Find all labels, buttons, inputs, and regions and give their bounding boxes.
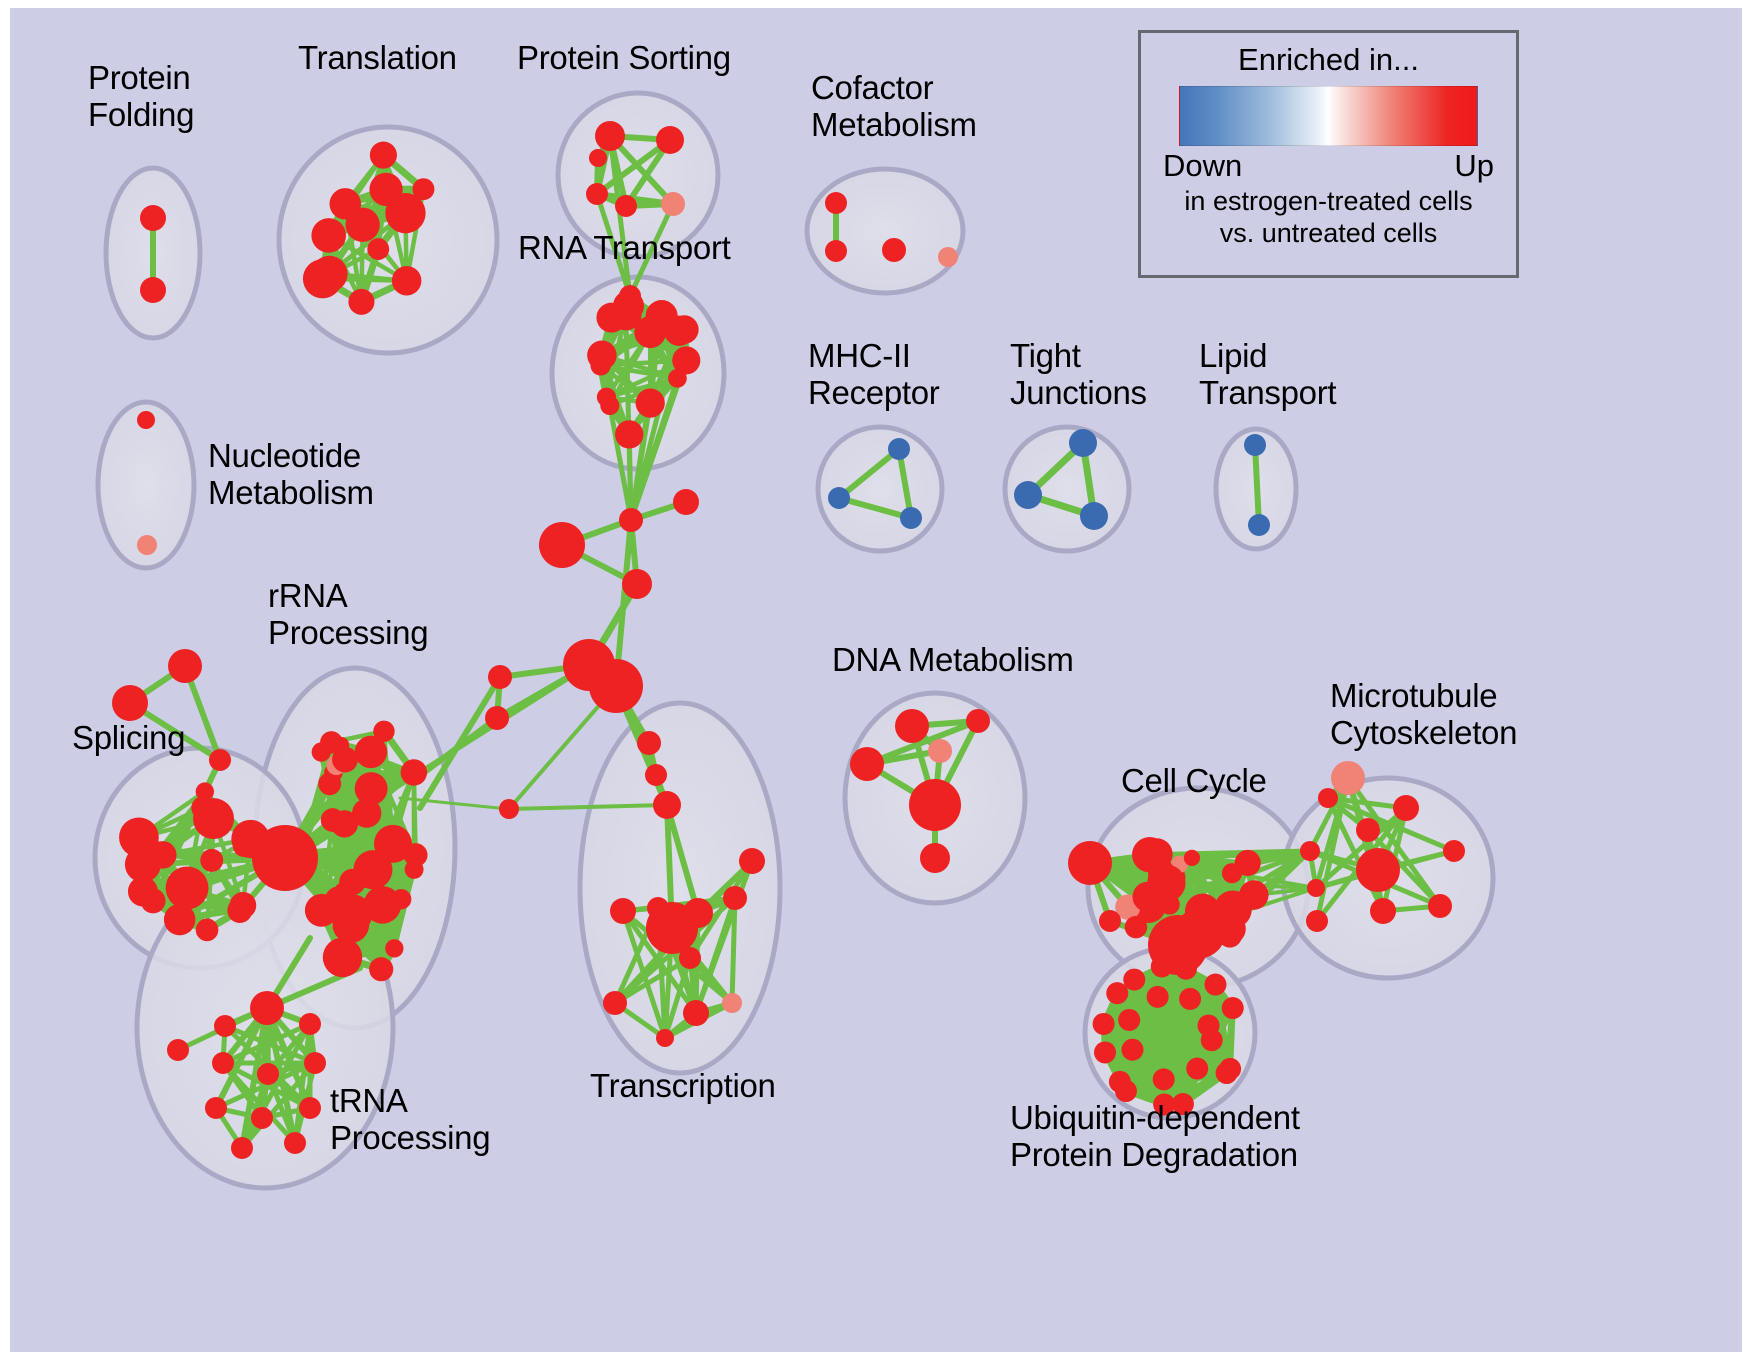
rrna-processing-node[interactable] <box>352 798 381 827</box>
rrna-hub-node[interactable] <box>252 825 318 891</box>
cell-cycle-node[interactable] <box>1184 850 1200 866</box>
rna-transport-node[interactable] <box>634 316 666 348</box>
microtubule-node[interactable] <box>1307 879 1325 897</box>
protein-folding-node[interactable] <box>140 277 166 303</box>
tight-junctions-node[interactable] <box>1014 481 1042 509</box>
ubiquitin-node[interactable] <box>1179 988 1201 1010</box>
rna-transport-node[interactable] <box>590 355 610 375</box>
nucleotide-node[interactable] <box>137 535 157 555</box>
rrna-processing-node[interactable] <box>321 808 345 832</box>
ubiquitin-node[interactable] <box>1198 1015 1220 1037</box>
ubiquitin-node[interactable] <box>1216 1062 1238 1084</box>
transcription-node[interactable] <box>723 886 747 910</box>
trna-node[interactable] <box>167 1039 189 1061</box>
protein-sorting-node[interactable] <box>586 183 608 205</box>
microtubule-node[interactable] <box>1443 840 1465 862</box>
rna-transport-node[interactable] <box>668 369 687 388</box>
rrna-processing-node[interactable] <box>339 869 365 895</box>
ubiquitin-node[interactable] <box>1175 958 1197 980</box>
translation-node[interactable] <box>385 193 425 233</box>
backbone-node[interactable] <box>637 731 661 755</box>
transcription-node[interactable] <box>646 902 698 954</box>
cluster-label-cell-cycle: Cell Cycle <box>1121 763 1267 800</box>
cluster-label-lipid-transport: Lipid Transport <box>1199 338 1336 412</box>
cluster-label-protein-folding: Protein Folding <box>88 60 194 134</box>
nucleotide-node[interactable] <box>137 411 155 429</box>
dna-metabolism-node[interactable] <box>895 709 929 743</box>
legend-high-label: Up <box>1454 148 1494 184</box>
cofactor-node[interactable] <box>825 240 847 262</box>
rna-transport-node[interactable] <box>670 315 698 343</box>
backbone-node[interactable] <box>673 489 699 515</box>
cluster-label-translation: Translation <box>298 40 457 77</box>
translation-node[interactable] <box>392 266 422 296</box>
cell-cycle-hub-node[interactable] <box>1175 908 1225 958</box>
translation-node[interactable] <box>370 142 397 169</box>
cluster-label-transcription: Transcription <box>590 1068 776 1105</box>
cell-cycle-node[interactable] <box>1132 882 1162 912</box>
backbone-node[interactable] <box>539 522 585 568</box>
ubiquitin-node[interactable] <box>1153 1068 1175 1090</box>
cluster-label-mhc-ii-receptor: MHC-II Receptor <box>808 338 940 412</box>
ubiquitin-node[interactable] <box>1123 969 1145 991</box>
rrna-processing-node[interactable] <box>373 721 394 742</box>
trna-node[interactable] <box>304 1052 326 1074</box>
legend-caption-line1: in estrogen-treated cells <box>1141 186 1516 216</box>
trna-node[interactable] <box>257 1063 279 1085</box>
ubiquitin-node[interactable] <box>1121 1039 1143 1061</box>
microtubule-node[interactable] <box>1318 788 1338 808</box>
microtubule-node[interactable] <box>1300 841 1320 861</box>
protein-sorting-node[interactable] <box>656 126 684 154</box>
trna-node[interactable] <box>251 1107 273 1129</box>
cluster-label-ubiquitin-protein-degradation: Ubiquitin-dependent Protein Degradation <box>1010 1100 1300 1174</box>
transcription-node[interactable] <box>679 947 701 969</box>
lipid-transport-node[interactable] <box>1244 434 1266 456</box>
trna-node[interactable] <box>205 1097 227 1119</box>
rna-transport-node[interactable] <box>600 396 619 415</box>
cofactor-node[interactable] <box>882 238 906 262</box>
splicing-node[interactable] <box>193 798 234 839</box>
dna-metabolism-node[interactable] <box>966 709 990 733</box>
microtubule-node[interactable] <box>1331 761 1365 795</box>
cluster-label-microtubule-cytoskeleton: Microtubule Cytoskeleton <box>1330 678 1517 752</box>
transcription-node[interactable] <box>683 1000 709 1026</box>
protein-sorting-node[interactable] <box>595 121 625 151</box>
dna-metabolism-node[interactable] <box>850 747 884 781</box>
cluster-ellipse-transcription <box>580 703 780 1073</box>
ubiquitin-node[interactable] <box>1093 1013 1115 1035</box>
rrna-processing-node[interactable] <box>401 759 427 785</box>
splicing-node[interactable] <box>168 649 202 683</box>
dna-metabolism-node[interactable] <box>928 739 952 763</box>
protein-sorting-node[interactable] <box>589 149 607 167</box>
trna-node[interactable] <box>214 1015 236 1037</box>
splicing-node[interactable] <box>230 892 257 919</box>
splicing-node[interactable] <box>112 685 148 721</box>
cluster-label-rrna-processing: rRNA Processing <box>268 578 428 652</box>
backbone-node[interactable] <box>653 791 681 819</box>
protein-sorting-node[interactable] <box>661 192 685 216</box>
cluster-label-rna-transport: RNA Transport <box>518 230 731 267</box>
cell-cycle-node[interactable] <box>1068 841 1112 885</box>
transcription-node[interactable] <box>739 848 765 874</box>
ubiquitin-node[interactable] <box>1109 1071 1131 1093</box>
splicing-node[interactable] <box>233 835 255 857</box>
splicing-node[interactable] <box>209 749 231 771</box>
rna-transport-node[interactable] <box>636 388 665 417</box>
microtubule-node[interactable] <box>1428 894 1452 918</box>
trna-node[interactable] <box>284 1132 306 1154</box>
microtubule-node[interactable] <box>1393 795 1419 821</box>
rrna-processing-node[interactable] <box>381 836 397 852</box>
cell-cycle-node[interactable] <box>1099 910 1121 932</box>
legend-low-label: Down <box>1163 148 1242 184</box>
backbone-node[interactable] <box>488 665 512 689</box>
trna-node[interactable] <box>231 1137 253 1159</box>
protein-sorting-node[interactable] <box>615 195 637 217</box>
translation-node[interactable] <box>303 259 342 298</box>
ubiquitin-node[interactable] <box>1151 955 1173 977</box>
splicing-node[interactable] <box>128 877 158 907</box>
transcription-node[interactable] <box>610 898 636 924</box>
microtubule-node[interactable] <box>1306 910 1328 932</box>
rrna-processing-node[interactable] <box>364 886 402 924</box>
microtubule-node[interactable] <box>1370 898 1396 924</box>
backbone-node[interactable] <box>622 569 652 599</box>
transcription-node[interactable] <box>656 1029 674 1047</box>
transcription-node[interactable] <box>603 991 627 1015</box>
trna-node[interactable] <box>299 1097 321 1119</box>
dna-metabolism-node[interactable] <box>909 779 961 831</box>
cluster-label-tight-junctions: Tight Junctions <box>1010 338 1147 412</box>
mhc-ii-node[interactable] <box>900 507 922 529</box>
translation-node[interactable] <box>311 218 346 253</box>
cluster-label-cofactor-metabolism: Cofactor Metabolism <box>811 70 977 144</box>
legend-caption-line2: vs. untreated cells <box>1141 218 1516 248</box>
cluster-label-trna-processing: tRNA Processing <box>330 1083 490 1157</box>
cluster-label-nucleotide-metabolism: Nucleotide Metabolism <box>208 438 374 512</box>
backbone-node[interactable] <box>619 508 643 532</box>
lipid-transport-node[interactable] <box>1248 514 1270 536</box>
ubiquitin-node[interactable] <box>1222 997 1244 1019</box>
microtubule-node[interactable] <box>1356 818 1380 842</box>
splicing-node[interactable] <box>196 919 219 942</box>
legend-box: Enriched in... Down Up in estrogen-treat… <box>1138 30 1519 278</box>
backbone-node[interactable] <box>589 659 643 713</box>
trna-node[interactable] <box>212 1052 234 1074</box>
rna-transport-hub-node[interactable] <box>619 285 641 307</box>
figure-canvas: Protein FoldingTranslationProtein Sortin… <box>0 0 1750 1360</box>
ubiquitin-node[interactable] <box>1186 1058 1208 1080</box>
cluster-label-protein-sorting: Protein Sorting <box>517 40 731 77</box>
cluster-label-dna-metabolism: DNA Metabolism <box>832 642 1074 679</box>
splicing-node[interactable] <box>200 849 223 872</box>
cluster-label-splicing: Splicing <box>72 720 185 757</box>
cell-cycle-node[interactable] <box>1239 880 1268 909</box>
transcription-node[interactable] <box>722 993 742 1013</box>
translation-node[interactable] <box>348 289 374 315</box>
cell-cycle-node[interactable] <box>1235 850 1261 876</box>
splicing-node[interactable] <box>166 866 209 909</box>
rrna-processing-node[interactable] <box>305 894 338 927</box>
microtubule-node[interactable] <box>1356 848 1400 892</box>
tight-junctions-node[interactable] <box>1080 502 1108 530</box>
cofactor-node[interactable] <box>825 192 847 214</box>
legend-color-bar <box>1179 86 1478 146</box>
trna-hub-node[interactable] <box>250 991 284 1025</box>
backbone-node[interactable] <box>499 799 519 819</box>
rrna-processing-node[interactable] <box>320 731 343 754</box>
backbone-node[interactable] <box>645 764 667 786</box>
ubiquitin-node[interactable] <box>1106 982 1128 1004</box>
dna-metabolism-node[interactable] <box>920 843 950 873</box>
rrna-processing-node[interactable] <box>385 939 403 957</box>
rrna-processing-node[interactable] <box>323 938 362 977</box>
rrna-processing-node[interactable] <box>369 957 393 981</box>
ubiquitin-node[interactable] <box>1094 1041 1116 1063</box>
legend-title: Enriched in... <box>1141 42 1516 78</box>
protein-folding-node[interactable] <box>140 205 166 231</box>
network-edge <box>1255 445 1259 525</box>
trna-node[interactable] <box>299 1013 321 1035</box>
translation-node[interactable] <box>367 238 389 260</box>
ubiquitin-node[interactable] <box>1147 986 1169 1008</box>
cofactor-node[interactable] <box>938 247 958 267</box>
splicing-node[interactable] <box>196 782 214 800</box>
mhc-ii-node[interactable] <box>888 438 910 460</box>
cell-cycle-node[interactable] <box>1125 916 1147 938</box>
rrna-processing-node[interactable] <box>318 772 341 795</box>
splicing-node[interactable] <box>119 817 159 857</box>
cluster-ellipse-cofactor-metabolism <box>807 169 963 293</box>
tight-junctions-node[interactable] <box>1069 429 1097 457</box>
ubiquitin-node[interactable] <box>1118 1009 1140 1031</box>
rna-transport-node[interactable] <box>615 420 643 448</box>
backbone-node[interactable] <box>485 706 509 730</box>
mhc-ii-node[interactable] <box>828 487 850 509</box>
ubiquitin-node[interactable] <box>1204 974 1226 996</box>
translation-node[interactable] <box>345 208 379 242</box>
enrichment-map-panel: Protein FoldingTranslationProtein Sortin… <box>10 8 1742 1352</box>
